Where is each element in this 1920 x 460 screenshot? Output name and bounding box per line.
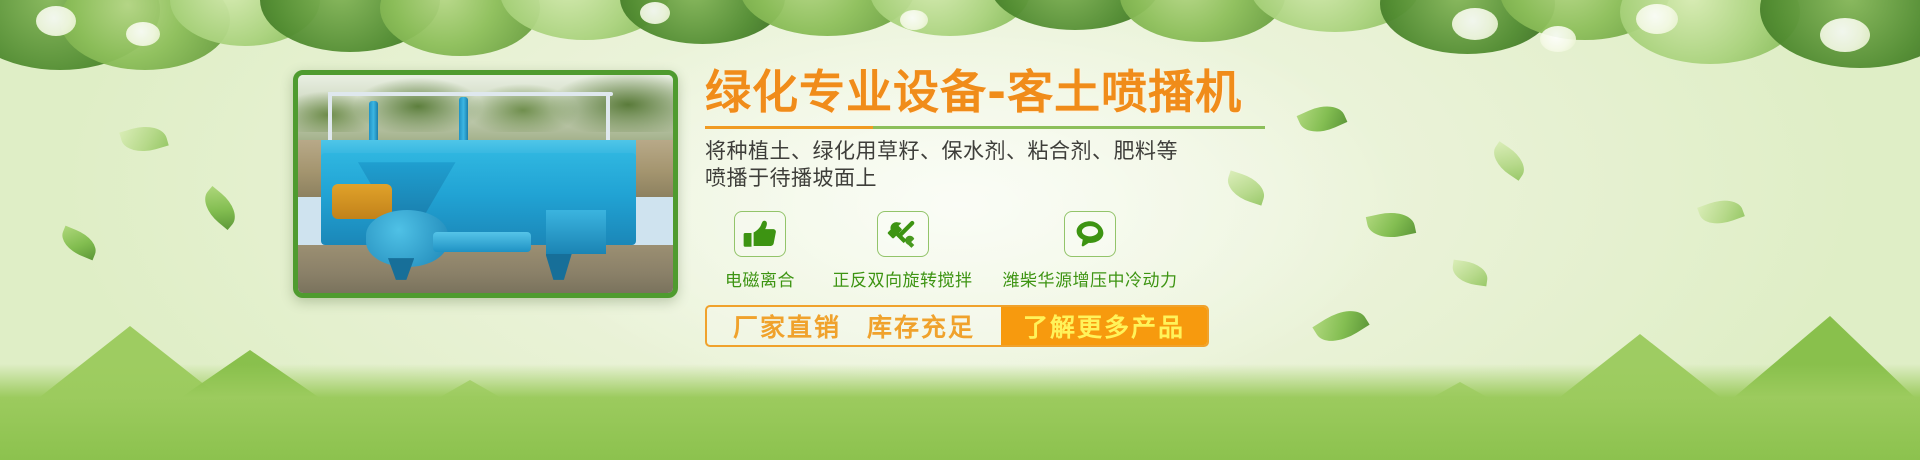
- tools-icon: [886, 219, 920, 249]
- floating-leaf-icon: [1697, 194, 1745, 231]
- floating-leaf-icon: [119, 120, 168, 157]
- learn-more-button[interactable]: 了解更多产品: [1001, 307, 1207, 345]
- banner-content: 绿化专业设备-客土喷播机 将种植土、绿化用草籽、保水剂、粘合剂、肥料等 喷播于待…: [705, 68, 1345, 347]
- subtitle-line-2: 喷播于待播坡面上: [705, 165, 1345, 193]
- feature-label: 电磁离合: [725, 266, 795, 291]
- cta-bar: 厂家直销 库存充足 了解更多产品: [705, 305, 1209, 347]
- slogan-text-2: 库存充足: [867, 308, 975, 344]
- feature-list: 电磁离合 正反双向旋转搅拌 潍柴华源增压中冷: [705, 211, 1345, 291]
- feature-item-engine[interactable]: 潍柴华源增压中冷动力: [990, 211, 1190, 291]
- slogan-text-1: 厂家直销: [733, 308, 841, 344]
- engine-icon: [1073, 219, 1107, 249]
- thumbs-up-icon: [743, 219, 777, 249]
- feature-icon-box: [1064, 211, 1116, 257]
- product-photo[interactable]: [293, 70, 678, 298]
- feature-icon-box: [877, 211, 929, 257]
- feature-item-clutch[interactable]: 电磁离合: [705, 211, 815, 291]
- slogan-group: 厂家直销 库存充足: [707, 307, 1001, 345]
- floating-leaf-icon: [1487, 141, 1531, 180]
- feature-label: 潍柴华源增压中冷动力: [1003, 266, 1178, 291]
- title-underline-rule: [705, 126, 1265, 129]
- subtitle-line-1: 将种植土、绿化用草籽、保水剂、粘合剂、肥料等: [705, 138, 1345, 166]
- promo-banner: 绿化专业设备-客土喷播机 将种植土、绿化用草籽、保水剂、粘合剂、肥料等 喷播于待…: [0, 0, 1920, 460]
- feature-item-mixing[interactable]: 正反双向旋转搅拌: [815, 211, 990, 291]
- feature-icon-box: [734, 211, 786, 257]
- floating-leaf-icon: [197, 186, 243, 230]
- page-title: 绿化专业设备-客土喷播机: [705, 68, 1345, 118]
- grass-strip-decoration: [0, 364, 1920, 460]
- feature-label: 正反双向旋转搅拌: [833, 266, 973, 291]
